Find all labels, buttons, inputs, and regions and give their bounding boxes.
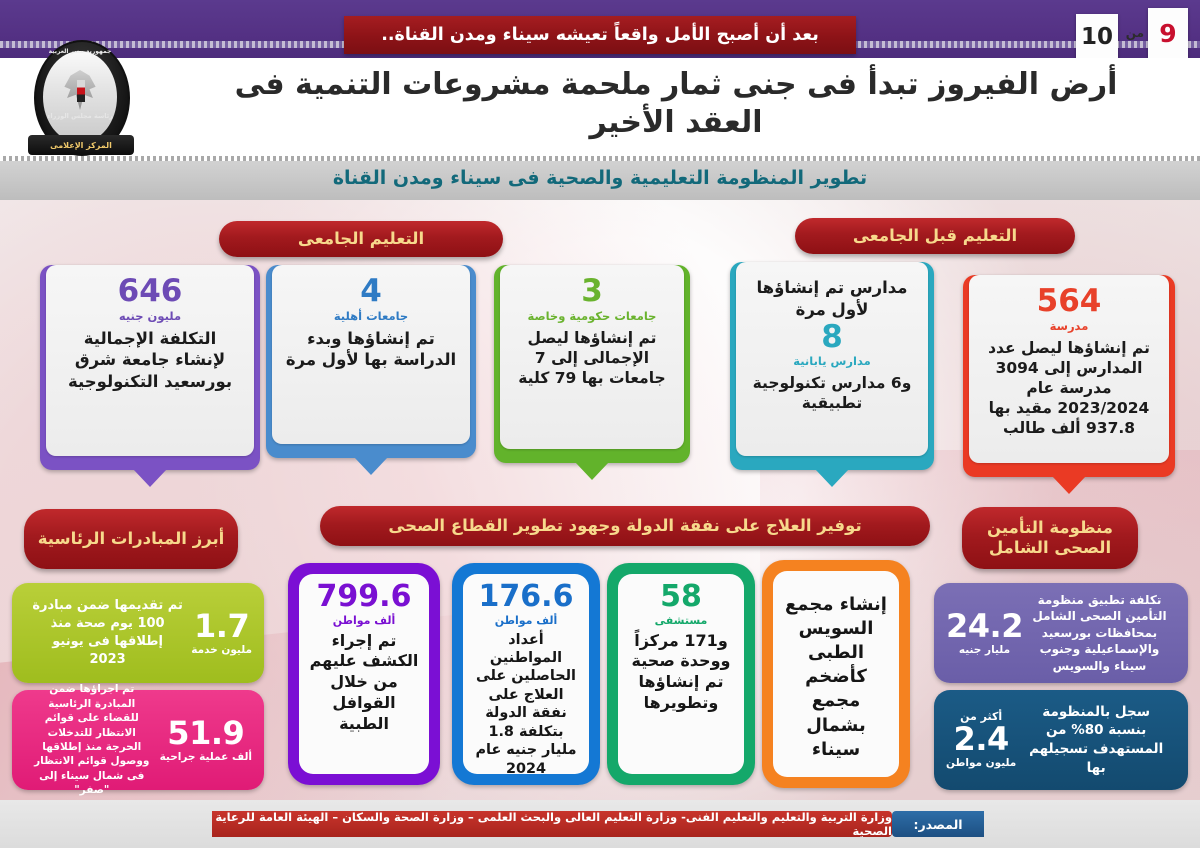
section-hatch (0, 156, 1200, 161)
edu-card-8-face: مدارس تم إنشاؤها لأول مرة 8 مدارس ياباني… (736, 262, 928, 456)
page-current: 9 (1159, 21, 1176, 46)
infographic-page: 10 من 9 بعد أن أصبح الأمل واقعاً تعيشه س… (0, 0, 1200, 848)
edu-card-4-pointer (354, 457, 388, 475)
label-initiatives-text: أبرز المبادرات الرئاسية (38, 529, 225, 549)
initiative-bar-51-9[interactable]: 51.9 ألف عملية جراحية تم اجراؤها ضمن الم… (12, 690, 264, 790)
edu-card-3[interactable]: 3 جامعات حكومية وخاصة تم إنشاؤها ليصل ال… (494, 265, 690, 463)
page-total-tab: 10 (1076, 14, 1118, 60)
label-pre-university-text: التعليم قبل الجامعى (853, 226, 1017, 246)
initiative-bar-51-9-number: 51.9 ألف عملية جراحية (160, 717, 252, 763)
footer: المصدر: وزارة التربية والتعليم والتعليم … (0, 800, 1200, 848)
insurance-bar-2-4-text: سجل بالمنظومة بنسبة 80% من المستهدف تسجي… (1016, 703, 1176, 778)
edu-card-4-value: 4 (282, 275, 460, 308)
edu-card-8-pointer (815, 469, 849, 487)
edu-card-4-face: 4 جامعات أهلية تم إنشاؤها وبدء الدراسة ب… (272, 265, 470, 444)
government-crest: جمهورية مصر العربية رئاسة مجلس الوزراء ا… (22, 36, 140, 158)
edu-card-4-text: تم إنشاؤها وبدء الدراسة بها لأول مرة (282, 328, 460, 372)
source-text: وزارة التربية والتعليم والتعليم الفنى- و… (212, 810, 892, 838)
page-current-tab: 9 (1148, 8, 1188, 58)
edu-card-646-value: 646 (56, 275, 244, 308)
section-title: تطوير المنظومة التعليمية والصحية فى سينا… (333, 167, 867, 189)
label-insurance: منظومة التأمين الصحى الشامل (962, 507, 1138, 569)
insurance-bar-24-2-text: تكلفة تطبيق منظومة التأمين الصحى الشامل … (1023, 592, 1176, 675)
treat-card-suez-complex-face: إنشاء مجمع السويس الطبى كأضخم مجمع بشمال… (773, 571, 899, 777)
edu-card-3-pointer (575, 462, 609, 480)
edu-card-3-face: 3 جامعات حكومية وخاصة تم إنشاؤها ليصل ال… (500, 265, 684, 449)
edu-card-564-face: 564 مدرسة تم إنشاؤها ليصل عدد المدارس إل… (969, 275, 1169, 463)
initiative-bar-51-9-value: 51.9 (160, 717, 252, 750)
treat-card-176-6-value: 176.6 (470, 582, 582, 613)
label-treatment: توفير العلاج على نفقة الدولة وجهود تطوير… (320, 506, 930, 546)
insurance-bar-2-4-unit: مليون مواطن (946, 757, 1016, 769)
headline-ribbon: بعد أن أصبح الأمل واقعاً تعيشه سيناء ومد… (344, 16, 856, 54)
label-insurance-text: منظومة التأمين الصحى الشامل (962, 518, 1138, 558)
edu-card-8-text-before: مدارس تم إنشاؤها لأول مرة (746, 277, 918, 321)
initiative-bar-1-7-value: 1.7 (191, 610, 252, 643)
source-text-box: وزارة التربية والتعليم والتعليم الفنى- و… (212, 811, 892, 837)
label-pre-university: التعليم قبل الجامعى (795, 218, 1075, 254)
treat-card-58-unit: مستشفى (625, 614, 737, 627)
insurance-bar-2-4-number: أكثر من 2.4 مليون مواطن (946, 711, 1016, 769)
page-title: أرض الفيروز تبدأ فى جنى ثمار ملحمة مشروع… (176, 66, 1176, 141)
label-treatment-text: توفير العلاج على نفقة الدولة وجهود تطوير… (388, 516, 861, 536)
treat-card-suez-complex-text: إنشاء مجمع السويس الطبى كأضخم مجمع بشمال… (780, 593, 892, 762)
treat-card-58-value: 58 (625, 582, 737, 613)
initiative-bar-1-7-text: تم تقديمها ضمن مبادرة 100 يوم صحة منذ إط… (24, 597, 191, 669)
edu-card-3-value: 3 (510, 275, 674, 308)
treat-card-799-6-text: تم إجراء الكشف عليهم من خلال القوافل الط… (306, 631, 422, 735)
headline-ribbon-text: بعد أن أصبح الأمل واقعاً تعيشه سيناء ومد… (381, 25, 819, 45)
treat-card-58-face: 58 مستشفى و171 مركزاً ووحدة صحية تم إنشا… (618, 574, 744, 774)
edu-card-4[interactable]: 4 جامعات أهلية تم إنشاؤها وبدء الدراسة ب… (266, 265, 476, 458)
page-title-line1: أرض الفيروز تبدأ فى جنى ثمار ملحمة مشروع… (235, 67, 1118, 102)
insurance-bar-24-2-number: 24.2 مليار جنيه (946, 610, 1023, 656)
initiative-bar-51-9-unit: ألف عملية جراحية (160, 751, 252, 763)
page-title-line2: العقد الأخير (176, 104, 1176, 142)
initiative-bar-1-7-unit: مليون خدمة (191, 644, 252, 656)
insurance-bar-24-2-unit: مليار جنيه (946, 644, 1023, 656)
initiative-bar-51-9-text: تم اجراؤها ضمن المبادرة الرئاسية للقضاء … (24, 682, 160, 798)
source-label: المصدر: (913, 817, 962, 832)
treat-card-suez-complex[interactable]: إنشاء مجمع السويس الطبى كأضخم مجمع بشمال… (762, 560, 910, 788)
edu-card-3-unit: جامعات حكومية وخاصة (510, 309, 674, 323)
treat-card-176-6[interactable]: 176.6 ألف مواطن أعداد المواطنين الحاصلين… (452, 563, 600, 785)
source-label-box: المصدر: (892, 811, 984, 837)
edu-card-8-value: 8 (746, 321, 918, 354)
edu-card-646-face: 646 مليون جنيه التكلفة الإجمالية لإنشاء … (46, 265, 254, 456)
insurance-bar-2-4-value: 2.4 (946, 723, 1016, 756)
insurance-bar-2-4[interactable]: سجل بالمنظومة بنسبة 80% من المستهدف تسجي… (934, 690, 1188, 790)
section-header-band: تطوير المنظومة التعليمية والصحية فى سينا… (0, 156, 1200, 200)
page-total: 10 (1081, 26, 1113, 49)
treat-card-58-text: و171 مركزاً ووحدة صحية تم إنشاؤها وتطوير… (625, 631, 737, 714)
edu-card-564[interactable]: 564 مدرسة تم إنشاؤها ليصل عدد المدارس إل… (963, 275, 1175, 477)
page-of-label-wrap: من (1118, 22, 1144, 48)
crest-band: المركز الإعلامى (28, 135, 134, 155)
initiative-bar-1-7-number: 1.7 مليون خدمة (191, 610, 252, 656)
insurance-bar-24-2[interactable]: تكلفة تطبيق منظومة التأمين الصحى الشامل … (934, 583, 1188, 683)
edu-card-8-text: و6 مدارس تكنولوجية تطبيقية (746, 373, 918, 413)
treat-card-176-6-unit: ألف مواطن (470, 614, 582, 627)
insurance-bar-24-2-value: 24.2 (946, 610, 1023, 643)
treat-card-799-6-value: 799.6 (306, 582, 422, 613)
edu-card-564-unit: مدرسة (979, 319, 1159, 333)
treat-card-58[interactable]: 58 مستشفى و171 مركزاً ووحدة صحية تم إنشا… (607, 563, 755, 785)
edu-card-564-pointer (1052, 476, 1086, 494)
treat-card-799-6-face: 799.6 ألف مواطن تم إجراء الكشف عليهم من … (299, 574, 429, 774)
label-university: التعليم الجامعى (219, 221, 503, 257)
edu-card-4-unit: جامعات أهلية (282, 309, 460, 323)
edu-card-564-value: 564 (979, 285, 1159, 318)
label-university-text: التعليم الجامعى (298, 229, 424, 249)
edu-card-646-unit: مليون جنيه (56, 309, 244, 323)
edu-card-8-unit: مدارس يابانية (746, 354, 918, 368)
initiative-bar-1-7[interactable]: 1.7 مليون خدمة تم تقديمها ضمن مبادرة 100… (12, 583, 264, 683)
edu-card-8[interactable]: مدارس تم إنشاؤها لأول مرة 8 مدارس ياباني… (730, 262, 934, 470)
crest-band-text: المركز الإعلامى (50, 141, 112, 150)
flag-shield-icon (77, 80, 85, 102)
edu-card-646-text: التكلفة الإجمالية لإنشاء جامعة شرق بورسع… (56, 328, 244, 393)
page-of-label: من (1126, 26, 1144, 40)
crest-top-text: جمهورية مصر العربية (36, 48, 124, 55)
label-initiatives: أبرز المبادرات الرئاسية (24, 509, 238, 569)
edu-card-3-text: تم إنشاؤها ليصل الإجمالى إلى 7 جامعات به… (510, 328, 674, 388)
treat-card-799-6[interactable]: 799.6 ألف مواطن تم إجراء الكشف عليهم من … (288, 563, 440, 785)
treat-card-176-6-text: أعداد المواطنين الحاصلين على العلاج على … (470, 631, 582, 774)
edu-card-646-pointer (133, 469, 167, 487)
edu-card-646[interactable]: 646 مليون جنيه التكلفة الإجمالية لإنشاء … (40, 265, 260, 470)
treat-card-799-6-unit: ألف مواطن (306, 614, 422, 627)
crest-mid-text: رئاسة مجلس الوزراء (38, 112, 122, 120)
treat-card-176-6-face: 176.6 ألف مواطن أعداد المواطنين الحاصلين… (463, 574, 589, 774)
edu-card-564-text: تم إنشاؤها ليصل عدد المدارس إلى 3094 مدر… (979, 338, 1159, 439)
